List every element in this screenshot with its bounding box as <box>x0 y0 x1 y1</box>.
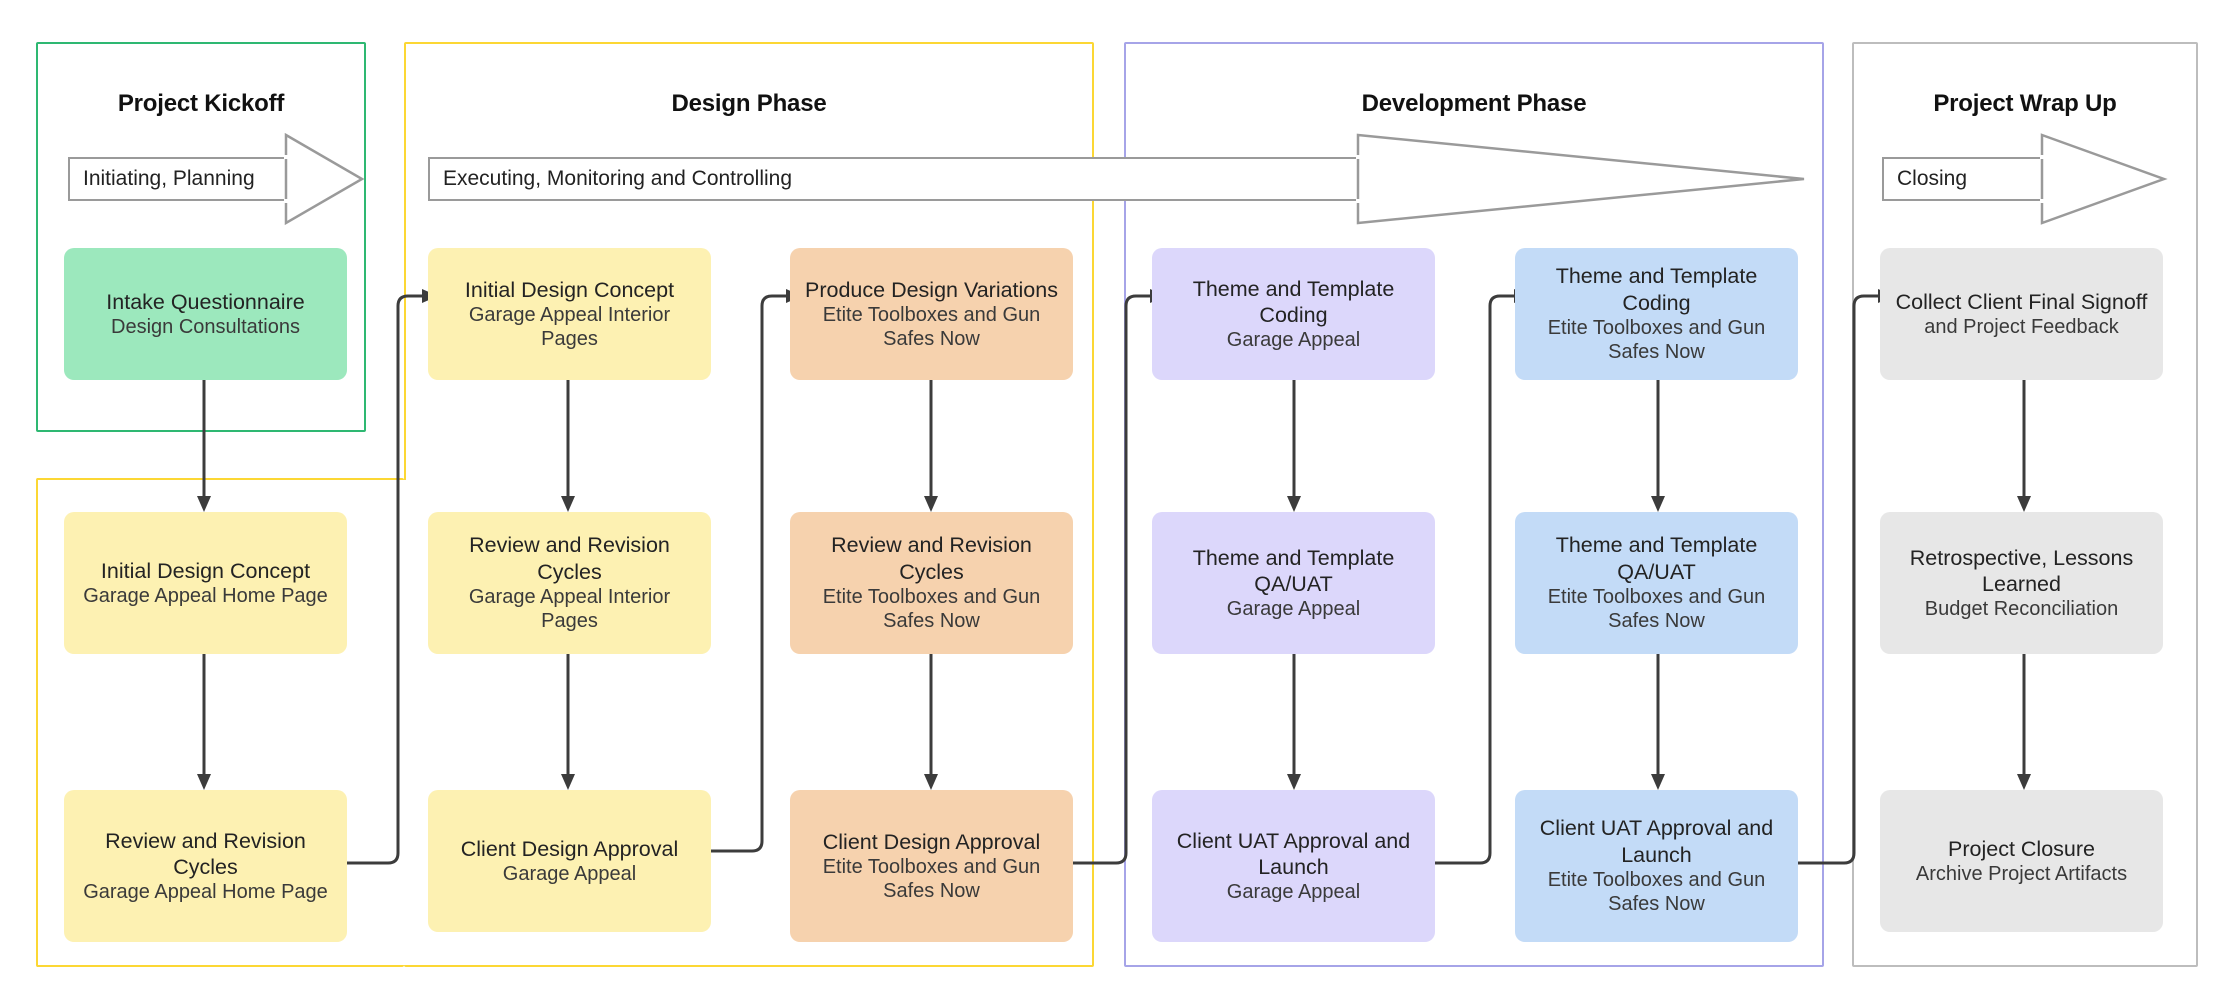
task-title: Theme and Template Coding <box>1162 276 1425 328</box>
task-card-project-closure[interactable]: Project Closure Archive Project Artifact… <box>1880 790 2163 932</box>
task-card-review-revision-cycles-home[interactable]: Review and Revision Cycles Garage Appeal… <box>64 790 347 942</box>
task-title: Review and Revision Cycles <box>74 828 337 880</box>
task-title: Client UAT Approval and Launch <box>1162 828 1425 880</box>
task-card-intake-questionnaire[interactable]: Intake Questionnaire Design Consultation… <box>64 248 347 380</box>
task-title: Produce Design Variations <box>805 277 1058 303</box>
task-subtitle: Garage Appeal <box>1227 597 1360 621</box>
task-subtitle: Garage Appeal <box>1227 328 1360 352</box>
phase-title-design-phase: Design Phase <box>404 90 1094 118</box>
process-group-arrow-executing-monitoring-controlling: Executing, Monitoring and Controlling <box>428 157 1358 201</box>
task-title: Theme and Template Coding <box>1525 263 1788 315</box>
task-subtitle: Archive Project Artifacts <box>1916 862 2127 886</box>
task-card-review-revision-cycles-interior[interactable]: Review and Revision Cycles Garage Appeal… <box>428 512 711 654</box>
task-subtitle: Design Consultations <box>111 315 300 339</box>
phase-merge-mask <box>402 480 408 965</box>
task-title: Review and Revision Cycles <box>800 532 1063 584</box>
task-title: Retrospective, Lessons Learned <box>1890 545 2153 597</box>
task-card-initial-design-concept-home[interactable]: Initial Design Concept Garage Appeal Hom… <box>64 512 347 654</box>
process-group-label-executing-monitoring-controlling: Executing, Monitoring and Controlling <box>430 167 792 191</box>
task-subtitle: Budget Reconciliation <box>1925 597 2118 621</box>
task-card-review-revision-cycles-etite[interactable]: Review and Revision Cycles Etite Toolbox… <box>790 512 1073 654</box>
process-group-arrow-initiating-planning: Initiating, Planning <box>68 157 286 201</box>
task-card-initial-design-concept-interior[interactable]: Initial Design Concept Garage Appeal Int… <box>428 248 711 380</box>
task-subtitle: Etite Toolboxes and Gun Safes Now <box>800 585 1063 634</box>
task-title: Intake Questionnaire <box>106 289 304 315</box>
task-card-client-design-approval-etite[interactable]: Client Design Approval Etite Toolboxes a… <box>790 790 1073 942</box>
task-subtitle: Garage Appeal Home Page <box>83 584 328 608</box>
task-title: Client Design Approval <box>461 836 679 862</box>
task-card-client-design-approval-garage[interactable]: Client Design Approval Garage Appeal <box>428 790 711 932</box>
task-subtitle: Garage Appeal Home Page <box>83 880 328 904</box>
task-subtitle: Garage Appeal Interior Pages <box>438 303 701 352</box>
task-subtitle: Etite Toolboxes and Gun Safes Now <box>800 303 1063 352</box>
task-title: Theme and Template QA/UAT <box>1162 545 1425 597</box>
task-card-theme-template-qa-uat-etite[interactable]: Theme and Template QA/UAT Etite Toolboxe… <box>1515 512 1798 654</box>
task-card-theme-template-qa-uat-garage[interactable]: Theme and Template QA/UAT Garage Appeal <box>1152 512 1435 654</box>
task-subtitle: Garage Appeal <box>1227 880 1360 904</box>
task-card-theme-template-coding-etite[interactable]: Theme and Template Coding Etite Toolboxe… <box>1515 248 1798 380</box>
task-subtitle: Garage Appeal Interior Pages <box>438 585 701 634</box>
phase-title-development-phase: Development Phase <box>1124 90 1824 118</box>
task-card-produce-design-variations[interactable]: Produce Design Variations Etite Toolboxe… <box>790 248 1073 380</box>
process-group-label-closing: Closing <box>1884 167 1967 191</box>
task-title: Client Design Approval <box>823 829 1041 855</box>
task-title: Project Closure <box>1948 836 2095 862</box>
task-title: Review and Revision Cycles <box>438 532 701 584</box>
task-title: Initial Design Concept <box>101 558 310 584</box>
process-group-arrow-closing: Closing <box>1882 157 2042 201</box>
task-card-retrospective-lessons-learned[interactable]: Retrospective, Lessons Learned Budget Re… <box>1880 512 2163 654</box>
phase-title-project-kickoff: Project Kickoff <box>36 90 366 118</box>
task-title: Collect Client Final Signoff <box>1896 289 2148 315</box>
task-card-client-uat-approval-launch-etite[interactable]: Client UAT Approval and Launch Etite Too… <box>1515 790 1798 942</box>
diagram-canvas: Project Kickoff Design Phase Development… <box>0 0 2234 1006</box>
task-subtitle: Etite Toolboxes and Gun Safes Now <box>800 855 1063 904</box>
task-subtitle: Etite Toolboxes and Gun Safes Now <box>1525 316 1788 365</box>
task-title: Theme and Template QA/UAT <box>1525 532 1788 584</box>
task-card-theme-template-coding-garage[interactable]: Theme and Template Coding Garage Appeal <box>1152 248 1435 380</box>
phase-title-project-wrap-up: Project Wrap Up <box>1852 90 2198 118</box>
process-group-label-initiating-planning: Initiating, Planning <box>70 167 255 191</box>
task-subtitle: and Project Feedback <box>1924 315 2119 339</box>
task-card-client-uat-approval-launch-garage[interactable]: Client UAT Approval and Launch Garage Ap… <box>1152 790 1435 942</box>
task-subtitle: Etite Toolboxes and Gun Safes Now <box>1525 868 1788 917</box>
task-title: Client UAT Approval and Launch <box>1525 815 1788 867</box>
task-subtitle: Garage Appeal <box>503 862 636 886</box>
task-card-collect-client-final-signoff[interactable]: Collect Client Final Signoff and Project… <box>1880 248 2163 380</box>
task-title: Initial Design Concept <box>465 277 674 303</box>
task-subtitle: Etite Toolboxes and Gun Safes Now <box>1525 585 1788 634</box>
